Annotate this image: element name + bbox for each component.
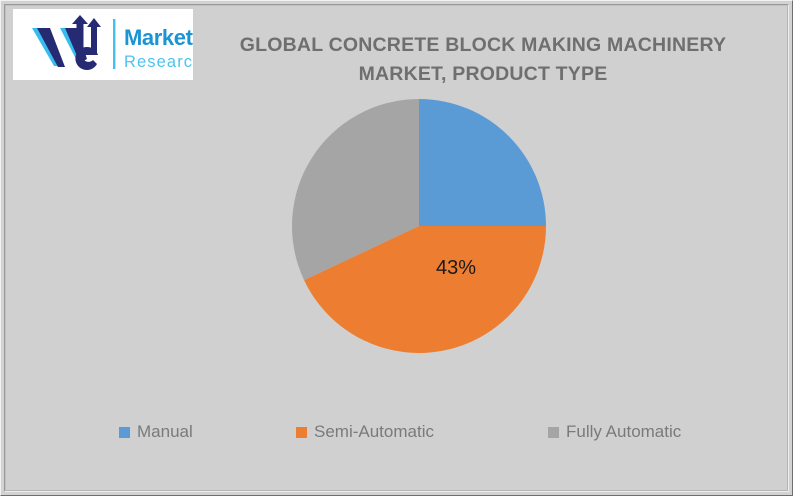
legend-label-semi-automatic: Semi-Automatic bbox=[314, 422, 434, 442]
pie-slice-manual[interactable] bbox=[419, 99, 546, 226]
square-swatch-icon bbox=[119, 427, 130, 438]
pie-chart-svg: 43% bbox=[9, 9, 786, 409]
legend-item-manual[interactable]: Manual bbox=[119, 418, 193, 446]
chart-legend: Manual Semi-Automatic Fully Automatic bbox=[9, 418, 786, 458]
pie-chart: 43% bbox=[9, 9, 786, 409]
square-swatch-icon bbox=[296, 427, 307, 438]
pie-data-label-semi-automatic: 43% bbox=[436, 257, 476, 279]
pie-slice-group bbox=[292, 99, 546, 353]
chart-frame: Market Research GLOBAL CONCRETE BLOCK MA… bbox=[0, 0, 793, 496]
legend-label-fully-automatic: Fully Automatic bbox=[566, 422, 681, 442]
chart-plot-surface: Market Research GLOBAL CONCRETE BLOCK MA… bbox=[9, 9, 786, 489]
legend-item-semi-automatic[interactable]: Semi-Automatic bbox=[296, 418, 434, 446]
legend-label-manual: Manual bbox=[137, 422, 193, 442]
legend-item-fully-automatic[interactable]: Fully Automatic bbox=[548, 418, 681, 446]
square-swatch-icon bbox=[548, 427, 559, 438]
